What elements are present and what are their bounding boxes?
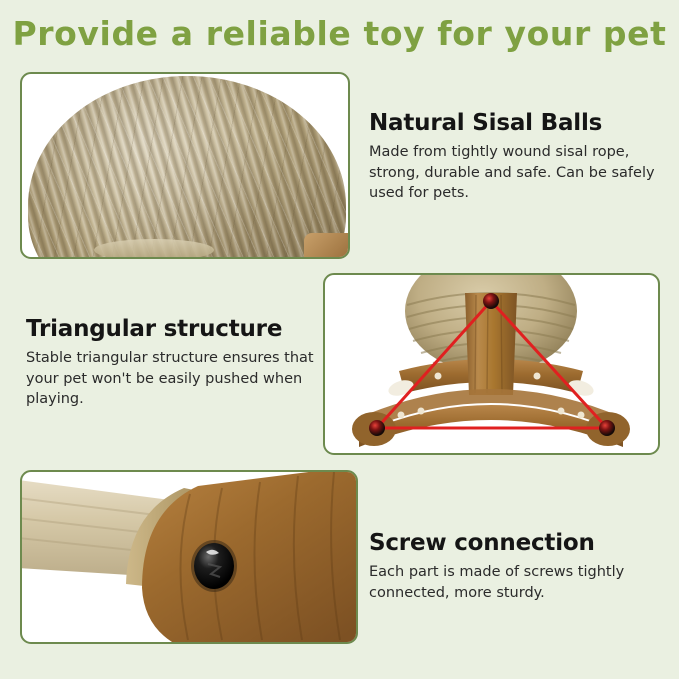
- feature-body-triangular-structure: Stable triangular structure ensures that…: [26, 348, 318, 410]
- feature-heading-sisal-balls: Natural Sisal Balls: [369, 110, 669, 136]
- feature-heading-screw-connection: Screw connection: [369, 530, 669, 556]
- feature-body-line: Stable triangular structure ensures that: [26, 348, 318, 369]
- feature-text-triangular-structure: Triangular structure Stable triangular s…: [26, 316, 318, 410]
- feature-text-screw-connection: Screw connection Each part is made of sc…: [369, 530, 669, 603]
- arm-hole-icon: [418, 408, 425, 415]
- tripod-illustration: [325, 275, 658, 453]
- arm-hole-icon: [558, 408, 565, 415]
- feature-body-line: playing.: [26, 389, 318, 410]
- screw-head-icon: [599, 420, 615, 436]
- sisal-ball-photo: [22, 74, 348, 257]
- feature-body-line: Each part is made of screws tightly: [369, 562, 669, 583]
- feature-image-triangular-structure: [323, 273, 660, 455]
- feature-body-screw-connection: Each part is made of screws tightly conn…: [369, 562, 669, 603]
- feature-body-line: strong, durable and safe. Can be safely: [369, 163, 669, 184]
- arm-hole-icon: [398, 412, 405, 419]
- feature-body-line: used for pets.: [369, 183, 669, 204]
- arm-hole-icon: [578, 412, 585, 419]
- tripod-base-photo: [325, 275, 658, 453]
- feature-text-sisal-balls: Natural Sisal Balls Made from tightly wo…: [369, 110, 669, 204]
- arm-hole-icon: [435, 373, 442, 380]
- feature-image-screw-connection: [20, 470, 358, 644]
- arm-hole-icon: [534, 373, 541, 380]
- feature-body-line: your pet won't be easily pushed when: [26, 369, 318, 390]
- screw-head-icon: [369, 420, 385, 436]
- page-title: Provide a reliable toy for your pet: [0, 14, 679, 53]
- sisal-ball-icon: [28, 76, 346, 257]
- feature-image-sisal-balls: [20, 72, 350, 259]
- feature-body-line: connected, more sturdy.: [369, 583, 669, 604]
- ball-base-shadow-icon: [94, 239, 214, 257]
- screw-illustration: [22, 472, 356, 642]
- feature-body-line: Made from tightly wound sisal rope,: [369, 142, 669, 163]
- feature-body-sisal-balls: Made from tightly wound sisal rope, stro…: [369, 142, 669, 204]
- screw-connection-photo: [22, 472, 356, 642]
- screw-head-icon: [483, 293, 499, 309]
- wood-corner-icon: [304, 233, 348, 257]
- feature-heading-triangular-structure: Triangular structure: [26, 316, 318, 342]
